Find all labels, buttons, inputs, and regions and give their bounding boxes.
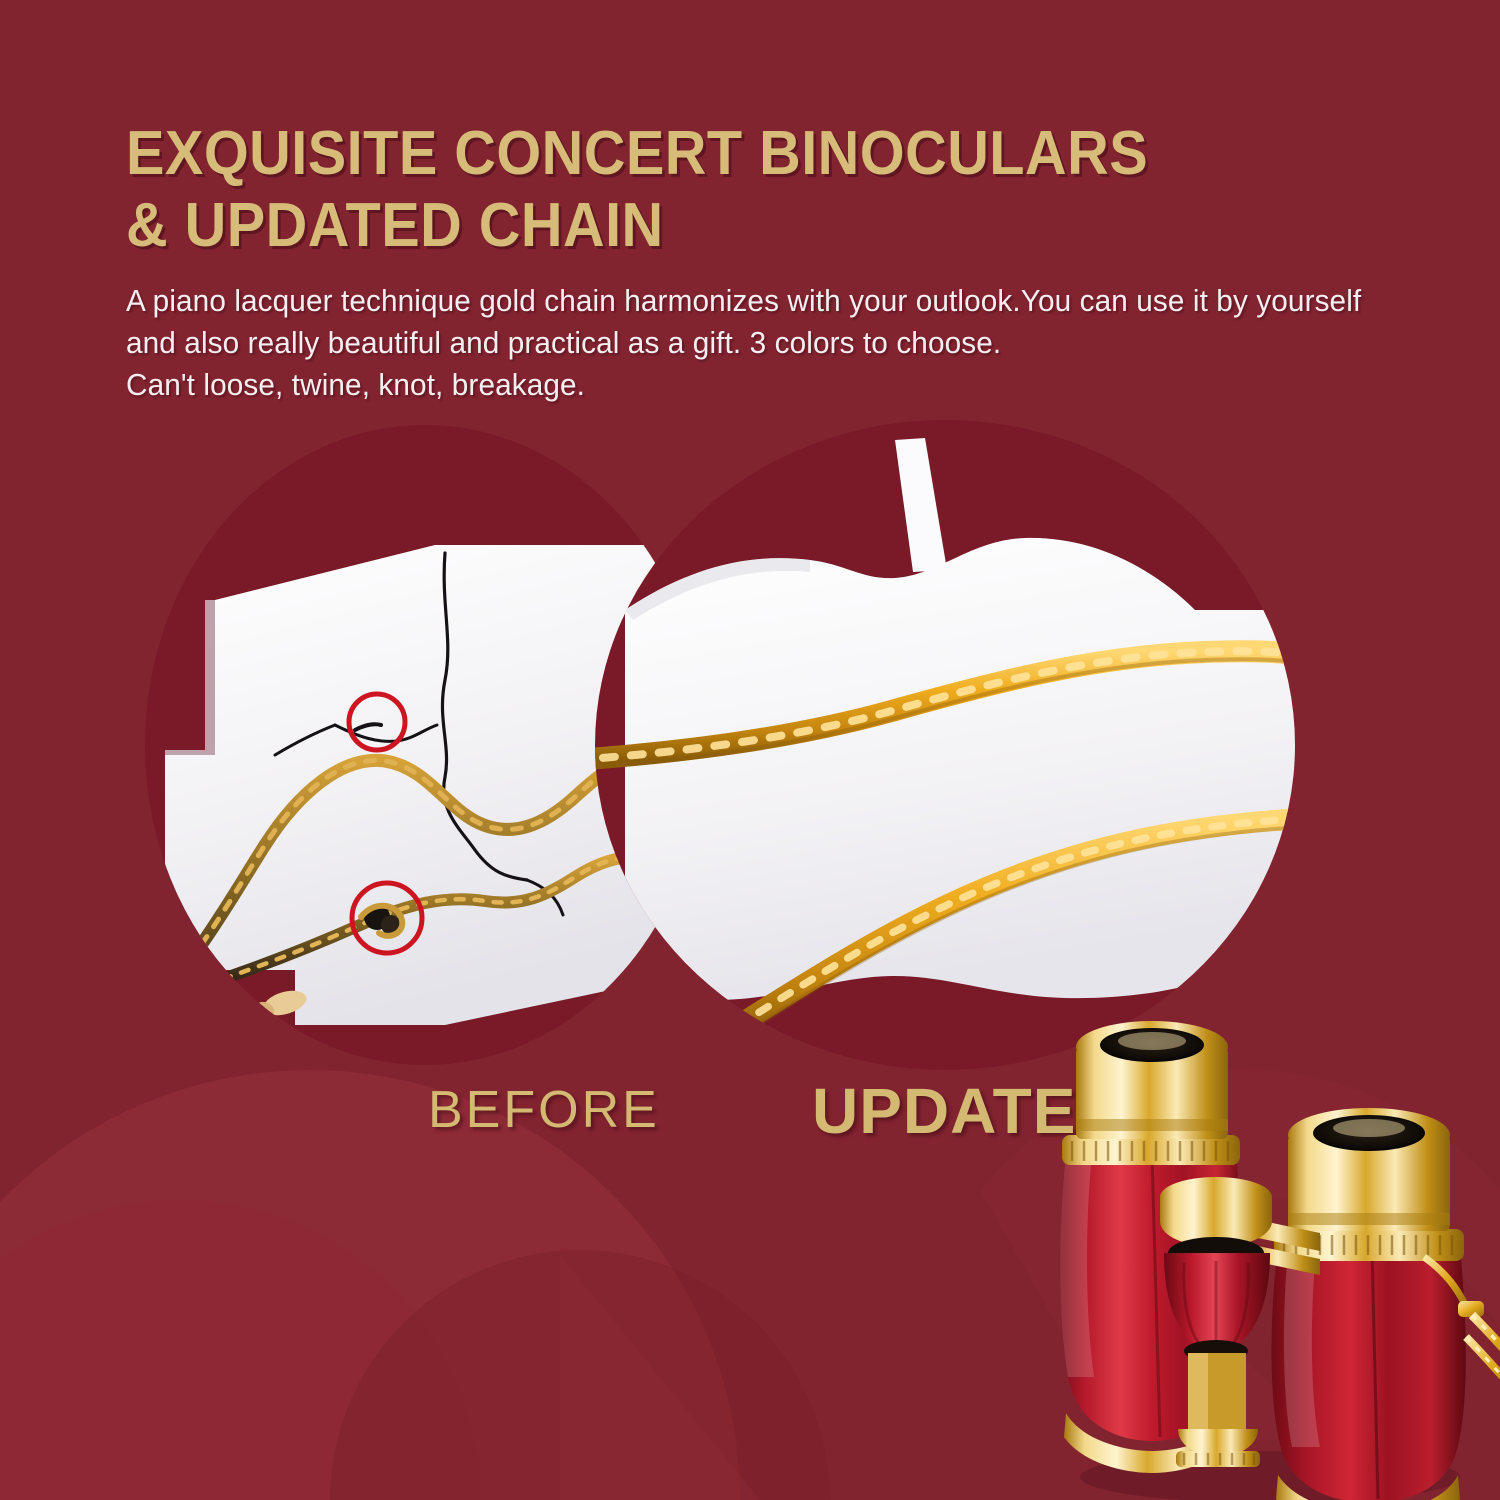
page-title: EXQUISITE CONCERT BINOCULARS & UPDATED C… [126, 118, 1335, 262]
product-binoculars [1020, 985, 1500, 1500]
description-text: A piano lacquer technique gold chain har… [126, 280, 1384, 406]
caption-before: BEFORE [428, 1080, 660, 1140]
annotation-knot-icon [352, 883, 422, 953]
updated-comparison-disc [595, 420, 1295, 1070]
annotation-broken-end-icon [349, 694, 405, 750]
product-feature-image: EXQUISITE CONCERT BINOCULARS & UPDATED C… [0, 0, 1500, 1500]
updated-photo [595, 420, 1295, 1070]
binocular-right-barrel [1272, 1108, 1466, 1500]
